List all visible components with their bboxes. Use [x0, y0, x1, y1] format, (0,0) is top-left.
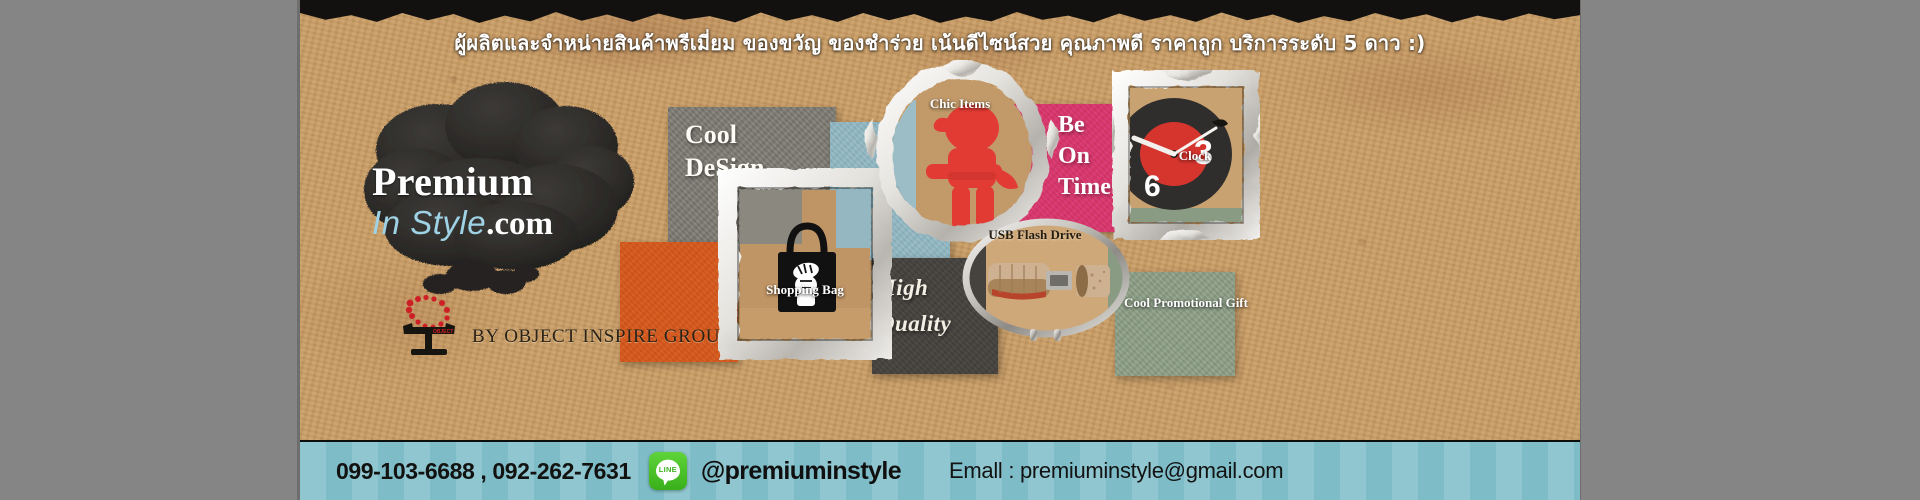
logo-title: Premium — [372, 162, 622, 202]
product-label-cool-promotional-gift: Cool Promotional Gift — [1106, 295, 1266, 311]
line-id[interactable]: @premiuminstyle — [701, 457, 901, 486]
byline: OBJECT BY OBJECT INSPIRE GROUP — [398, 315, 728, 367]
phone-numbers[interactable]: 099-103-6688 , 092-262-7631 — [336, 458, 631, 485]
product-label-shopping-bag: Shopping Bag — [730, 282, 880, 298]
logo-subtitle-italic: In Style — [372, 204, 486, 241]
logo-thought-bubble: Premium In Style.com — [320, 60, 650, 320]
logo-subtitle: In Style.com — [372, 206, 622, 241]
line-badge-label: LINE — [649, 452, 687, 490]
page-title: ผู้ผลิตและจำหน่ายสินค้าพรีเมี่ยม ของขวัญ… — [300, 26, 1580, 60]
line-app-icon[interactable]: LINE — [649, 452, 687, 490]
email-address[interactable]: Emall : premiuminstyle@gmail.com — [949, 458, 1283, 484]
promo-banner: ผู้ผลิตและจำหน่ายสินค้าพรีเมี่ยม ของขวัญ… — [300, 0, 1580, 500]
left-gutter — [0, 0, 300, 500]
logo-text-group: Premium In Style.com — [372, 162, 622, 241]
svg-text:OBJECT: OBJECT — [433, 329, 453, 335]
product-label-chic-items: Chic Items — [890, 96, 1030, 112]
object-inspire-logo-icon: OBJECT — [398, 293, 466, 359]
right-gutter — [1580, 0, 1920, 500]
logo-subtitle-domain: .com — [486, 206, 553, 242]
byline-text: BY OBJECT INSPIRE GROUP — [472, 326, 731, 348]
product-label-usb-flash-drive: USB Flash Drive — [955, 227, 1115, 243]
product-label-clock: Clock — [1140, 148, 1250, 164]
label-line-1: Cool — [685, 118, 835, 151]
contact-bar: 099-103-6688 , 092-262-7631 LINE @premiu… — [300, 440, 1580, 500]
svg-text:6: 6 — [1144, 170, 1161, 203]
